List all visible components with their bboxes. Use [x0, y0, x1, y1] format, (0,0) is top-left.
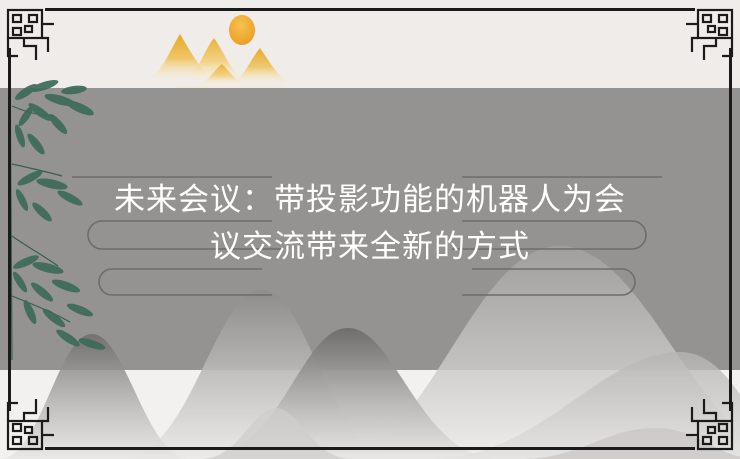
- corner-ornament-top-right: [674, 4, 736, 66]
- sun-icon: [229, 15, 255, 45]
- poster-title-line-2: 议交流带来全新的方式: [40, 223, 700, 270]
- frame-rule-right: [729, 48, 732, 411]
- corner-ornament-bottom-left: [4, 393, 66, 455]
- poster-title: 未来会议：带投影功能的机器人为会 议交流带来全新的方式: [40, 176, 700, 270]
- corner-ornament-bottom-right: [674, 393, 736, 455]
- frame-rule-bottom: [45, 447, 695, 450]
- frame-rule-top: [45, 8, 695, 11]
- corner-ornament-top-left: [4, 4, 66, 66]
- gold-mountain-icon: [146, 8, 296, 90]
- poster-title-line-1: 未来会议：带投影功能的机器人为会: [40, 176, 700, 223]
- poster-canvas: 未来会议：带投影功能的机器人为会 议交流带来全新的方式: [0, 0, 740, 459]
- frame-rule-left: [8, 48, 11, 411]
